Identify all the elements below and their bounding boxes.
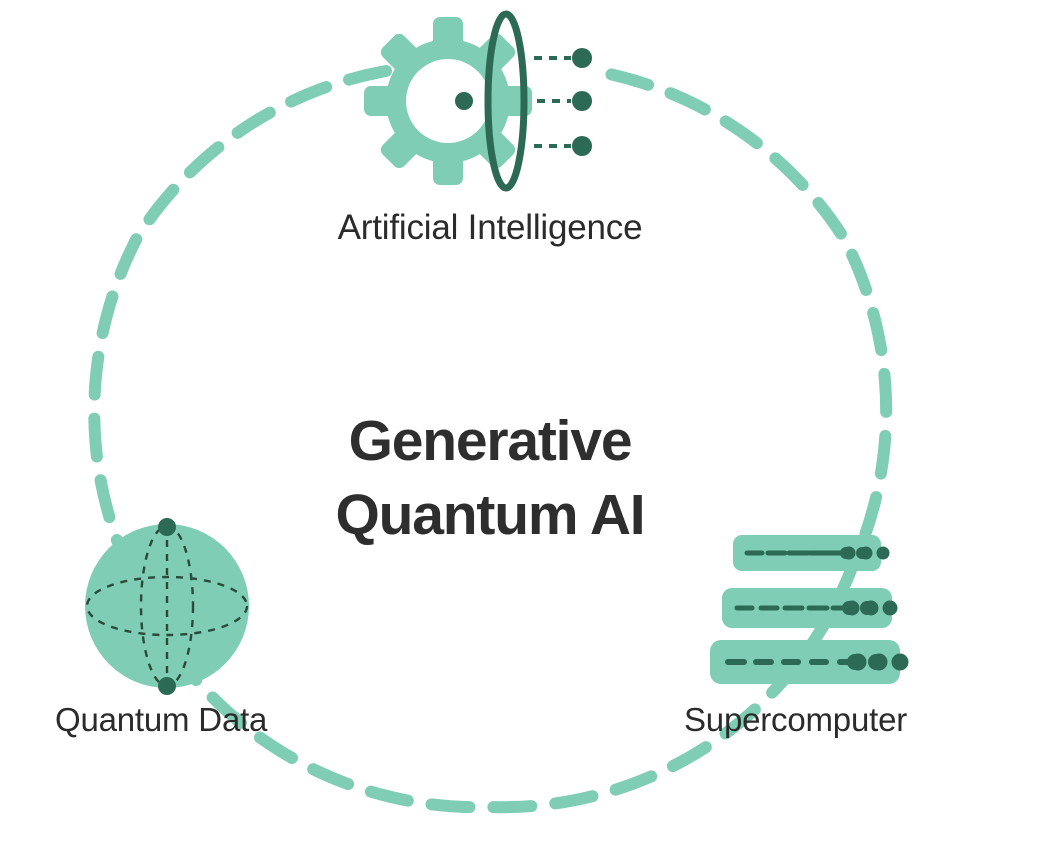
node-label-supercomputer: Supercomputer — [684, 701, 907, 739]
diagram-canvas: Artificial Intelligence Quantum Data Sup… — [0, 0, 1052, 859]
node-label-quantum-data: Quantum Data — [55, 701, 267, 739]
center-title-line-1: Generative — [0, 404, 980, 478]
bar3-status-dots — [850, 654, 909, 671]
node-label-artificial-intelligence: Artificial Intelligence — [0, 208, 980, 248]
bar2-status-dots — [845, 601, 898, 616]
center-title: Generative Quantum AI — [0, 404, 980, 552]
center-title-line-2: Quantum AI — [0, 478, 980, 552]
